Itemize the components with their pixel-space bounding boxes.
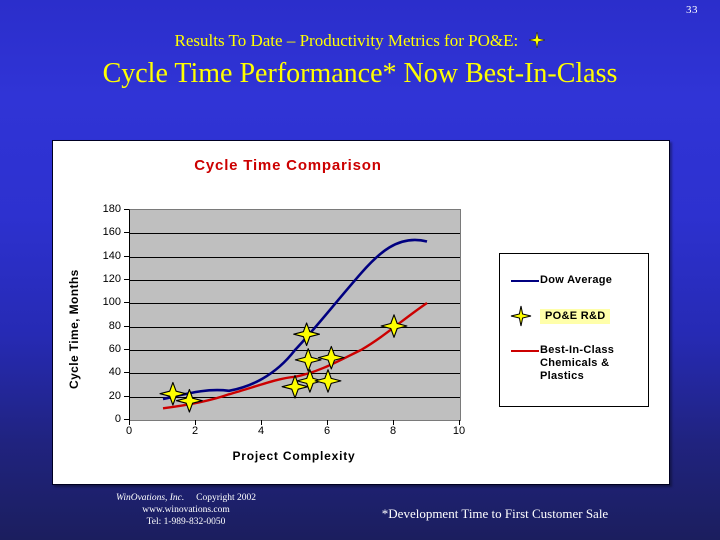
y-tick-140: 140 (85, 250, 121, 262)
footer-line-1: WinOvations, Inc. Copyright 2002 (56, 492, 316, 504)
slide-number: 33 (686, 4, 698, 16)
y-tick-mark (124, 349, 129, 350)
four-point-star-icon (529, 32, 545, 48)
x-tick-8: 8 (378, 425, 408, 437)
footnote: *Development Time to First Customer Sale (330, 506, 660, 522)
slide-subtitle: Results To Date – Productivity Metrics f… (0, 31, 720, 51)
page-title: Cycle Time Performance* Now Best-In-Clas… (0, 58, 720, 90)
slide-subtitle-text: Results To Date – Productivity Metrics f… (175, 31, 519, 50)
footer-company-block: WinOvations, Inc. Copyright 2002 www.win… (56, 492, 316, 528)
legend-item-poe-rnd[interactable]: PO&E R&D (510, 309, 610, 324)
x-tick-0: 0 (114, 425, 144, 437)
chart-legend: Dow Average PO&E R&D Best-In-Class Chemi… (499, 253, 649, 407)
legend-item-dow-average[interactable]: Dow Average (510, 274, 612, 288)
y-tick-mark (124, 232, 129, 233)
data-point-star (295, 349, 321, 372)
legend-line-swatch-blue (510, 274, 540, 288)
y-tick-mark (124, 209, 129, 210)
data-point-star (315, 370, 341, 393)
footer-website[interactable]: www.winovations.com (56, 504, 316, 516)
chart-svg (130, 210, 460, 420)
y-tick-mark (124, 256, 129, 257)
y-tick-mark (124, 326, 129, 327)
y-tick-mark (124, 396, 129, 397)
footer-copyright: Copyright 2002 (196, 493, 256, 503)
y-tick-80: 80 (85, 320, 121, 332)
chart-panel: Cycle Time Comparison Cycle Time, Months (52, 140, 670, 485)
y-tick-0: 0 (85, 413, 121, 425)
legend-line-swatch-red (510, 344, 540, 358)
four-point-star-icon (510, 309, 540, 323)
y-tick-mark (124, 302, 129, 303)
footer-company: WinOvations, Inc. (116, 493, 184, 503)
legend-label: Best-In-Class Chemicals & Plastics (540, 344, 645, 383)
data-point-star (318, 346, 344, 369)
y-axis-label: Cycle Time, Months (67, 269, 81, 389)
y-tick-60: 60 (85, 343, 121, 355)
x-axis-label: Project Complexity (129, 449, 459, 463)
y-tick-180: 180 (85, 203, 121, 215)
x-tick-4: 4 (246, 425, 276, 437)
y-tick-20: 20 (85, 390, 121, 402)
y-tick-100: 100 (85, 296, 121, 308)
legend-item-best-in-class[interactable]: Best-In-Class Chemicals & Plastics (510, 344, 645, 383)
x-tick-6: 6 (312, 425, 342, 437)
x-tick-2: 2 (180, 425, 210, 437)
legend-label: PO&E R&D (540, 309, 610, 324)
y-tick-mark (124, 279, 129, 280)
plot-area (129, 209, 461, 421)
chart-title: Cycle Time Comparison (53, 157, 523, 174)
legend-label: Dow Average (540, 274, 612, 287)
y-tick-160: 160 (85, 226, 121, 238)
footer-phone: Tel: 1-989-832-0050 (56, 516, 316, 528)
y-tick-40: 40 (85, 366, 121, 378)
x-tick-10: 10 (444, 425, 474, 437)
y-tick-mark (124, 372, 129, 373)
slide-canvas: 33 Results To Date – Productivity Metric… (0, 0, 720, 540)
y-tick-120: 120 (85, 273, 121, 285)
